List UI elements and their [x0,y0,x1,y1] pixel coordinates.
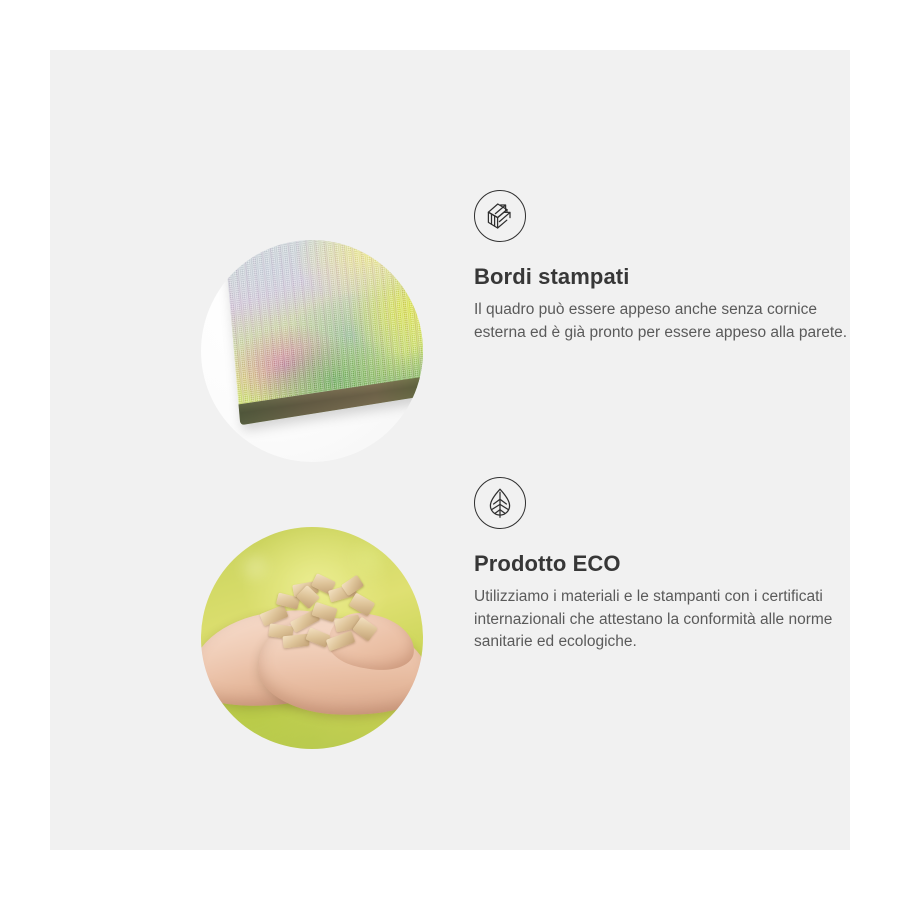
feature-text-bordi-stampati: Bordi stampati Il quadro può essere appe… [474,190,850,344]
canvas-photo-background [201,240,423,462]
feature-description: Il quadro può essere appeso anche senza … [474,299,850,344]
canvas-block [224,240,423,425]
feature-description: Utilizziamo i materiali e le stampanti c… [474,586,850,653]
hands-with-wood-chips-photo [201,527,423,749]
page-root: Bordi stampati Il quadro può essere appe… [0,0,900,900]
printed-canvas-corner-photo [201,240,423,462]
feature-title: Prodotto ECO [474,551,850,577]
wood-chip-pile [255,575,387,657]
leaf-icon [474,477,526,529]
eco-photo-background [201,527,423,749]
feature-title: Bordi stampati [474,264,850,290]
content-panel: Bordi stampati Il quadro può essere appe… [50,50,850,850]
feature-block-prodotto-eco: Prodotto ECO Utilizziamo i materiali e l… [150,477,850,749]
wrapped-canvas-edge-icon [474,190,526,242]
feature-block-bordi-stampati: Bordi stampati Il quadro può essere appe… [150,190,850,462]
feature-text-prodotto-eco: Prodotto ECO Utilizziamo i materiali e l… [474,477,850,654]
